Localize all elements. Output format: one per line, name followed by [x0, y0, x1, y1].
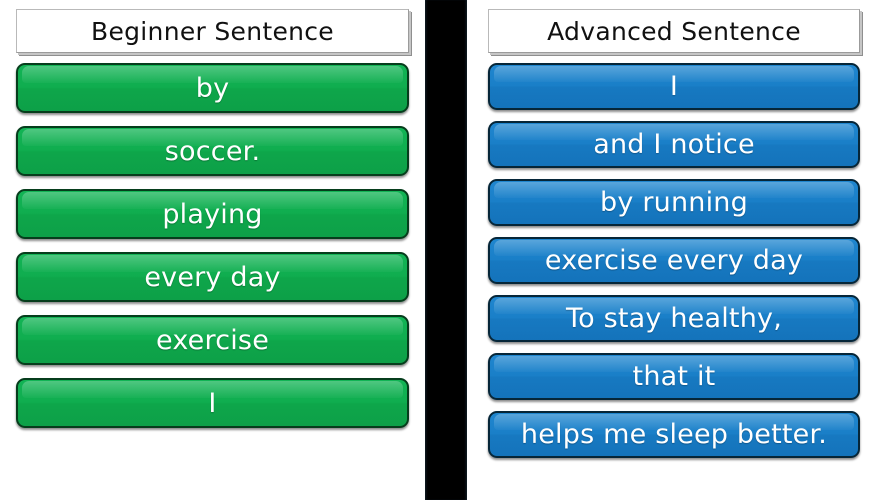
beginner-panel: Beginner Sentence by soccer. playing eve…: [0, 0, 425, 500]
beginner-header-label: Beginner Sentence: [91, 17, 334, 46]
word-strip-label: soccer.: [165, 138, 261, 165]
word-strip[interactable]: playing: [16, 189, 409, 239]
word-strip[interactable]: exercise every day: [488, 237, 860, 284]
word-strip-label: helps me sleep better.: [521, 421, 827, 448]
advanced-header-label: Advanced Sentence: [547, 17, 801, 46]
beginner-strip-list: by soccer. playing every day exercise I: [16, 63, 409, 428]
word-strip[interactable]: exercise: [16, 315, 409, 365]
word-strip[interactable]: every day: [16, 252, 409, 302]
advanced-header-box: Advanced Sentence: [488, 9, 860, 53]
word-strip[interactable]: To stay healthy,: [488, 295, 860, 342]
word-strip[interactable]: and I notice: [488, 121, 860, 168]
word-strip-label: playing: [162, 201, 262, 228]
word-strip-label: exercise: [156, 327, 269, 354]
word-strip-label: exercise every day: [545, 247, 803, 274]
word-strip-label: by: [196, 75, 230, 102]
word-strip[interactable]: I: [488, 63, 860, 110]
word-strip[interactable]: soccer.: [16, 126, 409, 176]
beginner-header-box: Beginner Sentence: [16, 9, 409, 53]
word-strip-label: I: [670, 73, 678, 100]
word-strip[interactable]: by: [16, 63, 409, 113]
word-strip[interactable]: I: [16, 378, 409, 428]
sentence-builder-app: Beginner Sentence by soccer. playing eve…: [0, 0, 894, 500]
word-strip-label: To stay healthy,: [566, 305, 782, 332]
panel-divider: [425, 0, 467, 500]
word-strip-label: I: [208, 390, 216, 417]
advanced-strip-list: I and I notice by running exercise every…: [488, 63, 860, 458]
advanced-panel: Advanced Sentence I and I notice by runn…: [467, 0, 894, 500]
word-strip-label: and I notice: [593, 131, 755, 158]
word-strip[interactable]: by running: [488, 179, 860, 226]
word-strip-label: that it: [633, 363, 716, 390]
word-strip-label: every day: [144, 264, 280, 291]
word-strip-label: by running: [600, 189, 748, 216]
word-strip[interactable]: helps me sleep better.: [488, 411, 860, 458]
word-strip[interactable]: that it: [488, 353, 860, 400]
